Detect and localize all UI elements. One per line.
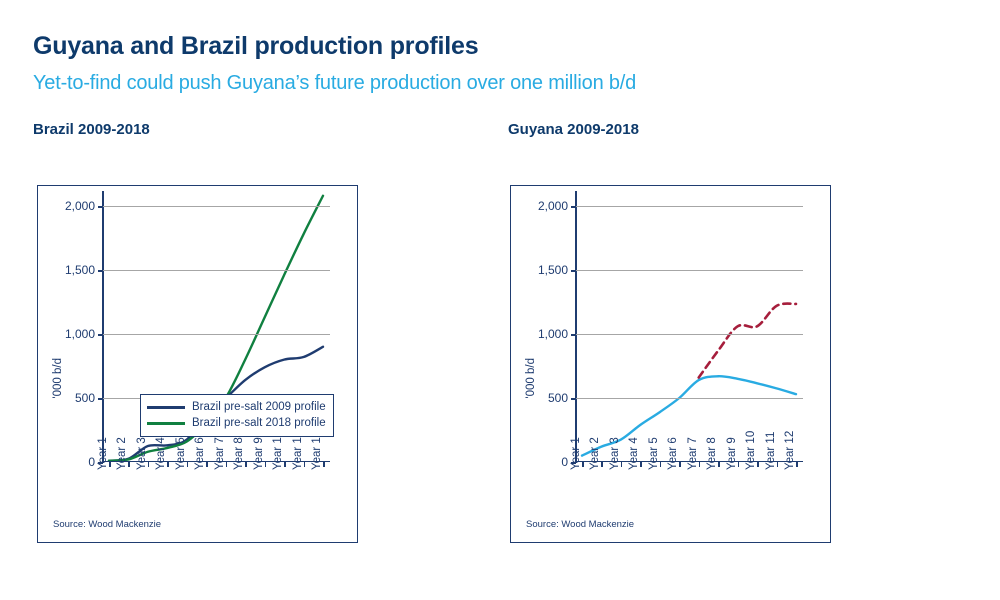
legend-item-brazil-2018: Brazil pre-salt 2018 profile [147, 415, 326, 431]
y-tick-label: 0 [88, 455, 95, 469]
x-tick-label: Year 4 [155, 437, 167, 470]
x-tick-label: Year 3 [136, 437, 148, 470]
x-tick-label: Year 3 [609, 437, 621, 470]
x-tick-mark [679, 462, 681, 467]
legend-swatch-brazil-2018 [147, 422, 185, 425]
y-tick-label: 500 [75, 391, 95, 405]
gridline [575, 398, 803, 399]
chart-heading-guyana: Guyana 2009-2018 [508, 121, 639, 138]
x-tick-label: Year 5 [648, 437, 660, 470]
x-tick-label: Year 8 [233, 437, 245, 470]
x-tick-label: Year 9 [253, 437, 265, 470]
y-axis-title-brazil: '000 b/d [52, 358, 64, 399]
y-tick-mark [571, 206, 576, 208]
y-tick-label: 0 [561, 455, 568, 469]
y-tick-mark [98, 334, 103, 336]
x-tick-label: Year 6 [667, 437, 679, 470]
x-tick-mark [148, 462, 150, 467]
x-tick-mark [284, 462, 286, 467]
x-tick-label: Year 10 [745, 431, 757, 470]
y-tick-label: 1,000 [538, 327, 568, 341]
x-tick-label: Year 9 [726, 437, 738, 470]
x-tick-mark [323, 462, 325, 467]
gridline [102, 206, 330, 207]
chart-brazil: '000 b/d 05001,0001,5002,000Year 1Year 2… [37, 185, 358, 543]
legend-item-brazil-2009: Brazil pre-salt 2009 profile [147, 399, 326, 415]
x-tick-label: Year 5 [175, 437, 187, 470]
x-tick-mark [582, 462, 584, 467]
x-tick-mark [796, 462, 798, 467]
y-tick-mark [98, 398, 103, 400]
y-tick-mark [571, 398, 576, 400]
x-tick-mark [601, 462, 603, 467]
x-tick-label: Year 11 [292, 432, 304, 470]
x-tick-label: Year 1 [570, 437, 582, 470]
x-tick-label: Year 11 [765, 432, 777, 470]
x-tick-mark [640, 462, 642, 467]
x-tick-mark [245, 462, 247, 467]
x-tick-label: Year 4 [628, 437, 640, 470]
page-title: Guyana and Brazil production profiles [33, 32, 478, 61]
y-tick-label: 1,500 [538, 263, 568, 277]
legend-label-brazil-2009: Brazil pre-salt 2009 profile [192, 401, 326, 413]
chart-guyana: '000 b/d 05001,0001,5002,000Year 1Year 2… [510, 185, 831, 543]
y-axis-guyana [575, 191, 577, 463]
gridline [575, 206, 803, 207]
y-axis-title-guyana: '000 b/d [525, 358, 537, 399]
y-tick-label: 1,500 [65, 263, 95, 277]
source-note-brazil: Source: Wood Mackenzie [53, 519, 161, 530]
x-tick-label: Year 8 [706, 437, 718, 470]
x-tick-mark [109, 462, 111, 467]
gridline [102, 334, 330, 335]
x-tick-mark [206, 462, 208, 467]
x-tick-mark [718, 462, 720, 467]
x-tick-mark [757, 462, 759, 467]
y-tick-label: 2,000 [65, 199, 95, 213]
x-tick-label: Year 12 [784, 431, 796, 470]
legend-swatch-brazil-2009 [147, 406, 185, 409]
y-tick-mark [98, 270, 103, 272]
y-tick-mark [98, 206, 103, 208]
plot-area-guyana: 05001,0001,5002,000Year 1Year 2Year 3Yea… [575, 206, 803, 462]
chart-heading-brazil: Brazil 2009-2018 [33, 121, 150, 138]
x-tick-mark [167, 462, 169, 467]
x-tick-label: Year 1 [97, 437, 109, 470]
x-tick-label: Year 2 [589, 437, 601, 470]
legend-brazil: Brazil pre-salt 2009 profile Brazil pre-… [140, 394, 334, 437]
page-subtitle: Yet-to-find could push Guyana’s future p… [33, 72, 636, 95]
y-tick-label: 500 [548, 391, 568, 405]
y-tick-label: 1,000 [65, 327, 95, 341]
x-tick-label: Year 6 [194, 437, 206, 470]
x-tick-mark [660, 462, 662, 467]
source-note-guyana: Source: Wood Mackenzie [526, 519, 634, 530]
series-line [699, 304, 796, 378]
y-tick-mark [571, 270, 576, 272]
x-tick-label: Year 7 [214, 437, 226, 470]
y-axis-brazil [102, 191, 104, 463]
x-tick-mark [187, 462, 189, 467]
x-tick-label: Year 2 [116, 437, 128, 470]
y-tick-mark [571, 334, 576, 336]
x-tick-mark [621, 462, 623, 467]
x-tick-mark [128, 462, 130, 467]
legend-label-brazil-2018: Brazil pre-salt 2018 profile [192, 417, 326, 429]
y-tick-label: 2,000 [538, 199, 568, 213]
gridline [575, 270, 803, 271]
x-tick-label: Year 7 [687, 437, 699, 470]
gridline [102, 270, 330, 271]
gridline [575, 334, 803, 335]
